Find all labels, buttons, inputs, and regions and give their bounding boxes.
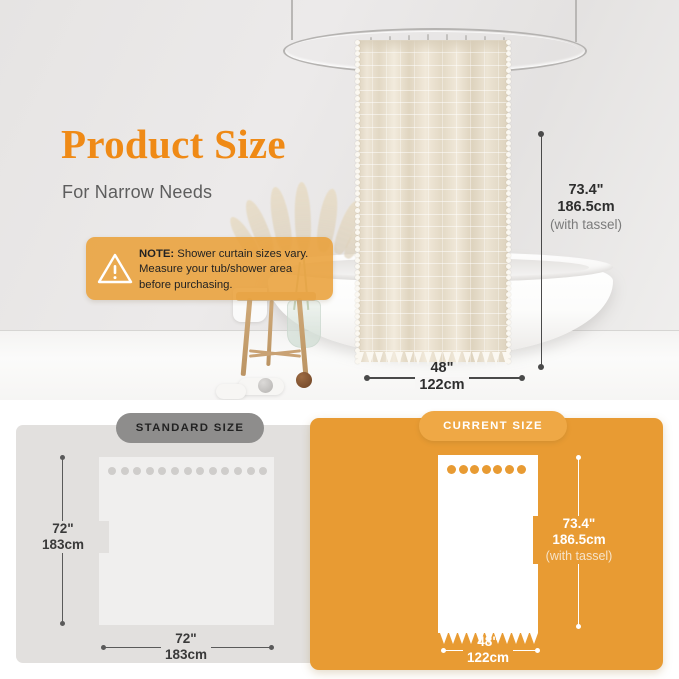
fringe-bead xyxy=(355,225,360,230)
standard-width-dot-right xyxy=(269,645,274,650)
curtain-weave-row xyxy=(358,238,508,239)
curtain-weave-row xyxy=(358,176,508,177)
fringe-bead xyxy=(506,135,511,140)
rod-stem-right xyxy=(575,0,577,42)
standard-width-cm: 183cm xyxy=(161,647,211,663)
curtain-weave-row xyxy=(358,152,508,153)
standard-grommet xyxy=(108,467,116,475)
curtain-weave-col xyxy=(484,40,485,362)
curtain-weave-row xyxy=(358,325,508,326)
fringe-bead xyxy=(506,163,511,168)
curtain-weave-col xyxy=(428,40,429,362)
fringe-bead xyxy=(506,242,511,247)
fringe-bead xyxy=(506,298,511,303)
fringe-bead xyxy=(506,51,511,56)
fringe-bead xyxy=(355,286,360,291)
curtain-weave-row xyxy=(358,164,508,165)
fringe-bead xyxy=(355,264,360,269)
fringe-bead xyxy=(506,107,511,112)
fringe-bead xyxy=(355,74,360,79)
current-width-dot-right xyxy=(535,648,540,653)
fringe-bead xyxy=(355,253,360,258)
standard-width-label: 72" 183cm xyxy=(140,631,232,663)
fringe-bead xyxy=(355,130,360,135)
fringe-bead xyxy=(355,236,360,241)
note-label: NOTE: xyxy=(139,248,174,260)
fringe-bead xyxy=(355,219,360,224)
fringe-bead xyxy=(506,174,511,179)
fringe-bead xyxy=(506,169,511,174)
scene-height-line xyxy=(541,134,543,368)
current-grommet xyxy=(459,465,468,474)
fringe-bead xyxy=(355,309,360,314)
standard-curtain-shape xyxy=(99,457,274,625)
curtain-weave-row xyxy=(358,114,508,115)
scene-height-cm: 186.5cm xyxy=(516,199,656,216)
fringe-bead xyxy=(355,113,360,118)
fringe-bead xyxy=(355,186,360,191)
fringe-bead xyxy=(506,79,511,84)
fringe-bead xyxy=(506,118,511,123)
curtain-weave-row xyxy=(358,90,508,91)
scene-width-cm: 122cm xyxy=(415,377,468,394)
current-height-dot-bottom xyxy=(576,624,581,629)
curtain-weave-row xyxy=(358,350,508,351)
fringe-bead xyxy=(355,124,360,129)
fringe-bead xyxy=(506,124,511,129)
fringe-bead xyxy=(355,85,360,90)
curtain-weave-col xyxy=(414,40,415,362)
fringe-bead xyxy=(355,174,360,179)
fringe-bead xyxy=(506,320,511,325)
standard-height-inches: 72" xyxy=(17,521,109,537)
fringe-bead xyxy=(355,146,360,151)
current-height-label: 73.4" 186.5cm (with tassel) xyxy=(533,516,625,564)
fringe-bead xyxy=(506,309,511,314)
curtain-weave-row xyxy=(358,201,508,202)
fringe-bead xyxy=(355,40,360,45)
fringe-bead xyxy=(506,102,511,107)
standard-grommet xyxy=(209,467,217,475)
curtain-weave-col xyxy=(456,40,457,362)
fringe-bead xyxy=(355,326,360,331)
shower-curtain-photo xyxy=(358,40,508,362)
fringe-bead xyxy=(506,152,511,157)
fringe-bead xyxy=(355,337,360,342)
curtain-weave-row xyxy=(358,77,508,78)
fringe-bead xyxy=(355,298,360,303)
warning-triangle-icon xyxy=(97,252,133,285)
standard-grommet xyxy=(234,467,242,475)
curtain-weave-row xyxy=(358,189,508,190)
curtain-weave-row xyxy=(358,251,508,252)
fringe-bead xyxy=(355,152,360,157)
fringe-bead xyxy=(355,135,360,140)
fringe-bead xyxy=(355,314,360,319)
towel-roll-small xyxy=(216,384,246,399)
standard-width-inches: 72" xyxy=(140,631,232,647)
fringe-bead xyxy=(506,180,511,185)
fringe-bead xyxy=(355,270,360,275)
fringe-bead xyxy=(506,225,511,230)
fringe-bead xyxy=(506,191,511,196)
curtain-weave-row xyxy=(358,127,508,128)
fringe-bead xyxy=(355,208,360,213)
fringe-bead xyxy=(355,303,360,308)
fringe-bead xyxy=(506,202,511,207)
fringe-bead xyxy=(355,79,360,84)
fringe-bead xyxy=(506,90,511,95)
fringe-bead xyxy=(355,281,360,286)
fringe-bead xyxy=(506,141,511,146)
current-grommet xyxy=(447,465,456,474)
rod-stem-left xyxy=(291,0,293,40)
fringe-bead xyxy=(355,197,360,202)
fringe-bead xyxy=(355,191,360,196)
current-size-badge: CURRENT SIZE xyxy=(419,411,567,441)
fringe-bead xyxy=(355,90,360,95)
fringe-bead xyxy=(506,40,511,45)
current-height-qualifier: (with tassel) xyxy=(533,548,625,564)
curtain-weave-row xyxy=(358,139,508,140)
fringe-bead xyxy=(506,230,511,235)
fringe-bead xyxy=(506,46,511,51)
curtain-weave-col xyxy=(470,40,471,362)
fringe-bead xyxy=(355,102,360,107)
decor-ball-gray xyxy=(258,378,273,393)
fringe-bead xyxy=(355,202,360,207)
fringe-bead xyxy=(506,186,511,191)
fringe-bead xyxy=(355,214,360,219)
curtain-fringe-right xyxy=(505,40,512,362)
product-size-infographic: Product Size For Narrow Needs NOTE: Show… xyxy=(0,0,679,679)
fringe-bead xyxy=(355,292,360,297)
fringe-bead xyxy=(355,51,360,56)
standard-grommet xyxy=(121,467,129,475)
curtain-weave-col xyxy=(372,40,373,362)
current-grommet xyxy=(517,465,526,474)
curtain-weave-row xyxy=(358,102,508,103)
fringe-bead xyxy=(355,247,360,252)
fringe-bead xyxy=(506,292,511,297)
fringe-bead xyxy=(506,275,511,280)
standard-size-badge: STANDARD SIZE xyxy=(116,413,264,443)
curtain-header-shade xyxy=(358,40,508,54)
fringe-bead xyxy=(506,74,511,79)
curtain-weave-row xyxy=(358,226,508,227)
fringe-bead xyxy=(355,331,360,336)
fringe-bead xyxy=(506,270,511,275)
standard-grommet xyxy=(247,467,255,475)
fringe-bead xyxy=(506,253,511,258)
fringe-bead xyxy=(506,62,511,67)
fringe-bead xyxy=(355,107,360,112)
fringe-bead xyxy=(506,197,511,202)
curtain-weave-row xyxy=(358,263,508,264)
curtain-weave-row xyxy=(358,338,508,339)
fringe-bead xyxy=(355,180,360,185)
curtain-weave-row xyxy=(358,65,508,66)
scene-width-inches: 48" xyxy=(381,360,503,377)
fringe-bead xyxy=(506,96,511,101)
fringe-bead xyxy=(355,96,360,101)
scene-width-label: 48" 122cm xyxy=(381,360,503,394)
fringe-bead xyxy=(506,337,511,342)
curtain-weave-col xyxy=(442,40,443,362)
fringe-bead xyxy=(506,146,511,151)
fringe-bead xyxy=(506,264,511,269)
fringe-bead xyxy=(355,242,360,247)
fringe-bead xyxy=(506,130,511,135)
fringe-bead xyxy=(506,258,511,263)
fringe-bead xyxy=(506,314,511,319)
standard-height-cm: 183cm xyxy=(17,537,109,553)
curtain-weave-row xyxy=(358,214,508,215)
fringe-bead xyxy=(506,158,511,163)
fringe-bead xyxy=(355,163,360,168)
fringe-bead xyxy=(506,208,511,213)
fringe-bead xyxy=(355,258,360,263)
fringe-bead xyxy=(355,169,360,174)
curtain-weave-row xyxy=(358,276,508,277)
current-height-inches: 73.4" xyxy=(533,516,625,532)
fringe-bead xyxy=(355,118,360,123)
fringe-bead xyxy=(506,57,511,62)
fringe-bead xyxy=(506,68,511,73)
curtain-weave-row xyxy=(358,300,508,301)
curtain-tassel xyxy=(356,352,364,365)
fringe-bead xyxy=(506,281,511,286)
current-width-label: 48" 122cm xyxy=(442,634,534,666)
page-title: Product Size xyxy=(61,120,286,168)
curtain-weave-row xyxy=(358,288,508,289)
current-grommet xyxy=(482,465,491,474)
fringe-bead xyxy=(506,326,511,331)
fringe-bead xyxy=(506,303,511,308)
standard-grommet xyxy=(171,467,179,475)
fringe-bead xyxy=(506,236,511,241)
fringe-bead xyxy=(355,68,360,73)
curtain-weave-col xyxy=(386,40,387,362)
fringe-bead xyxy=(355,230,360,235)
standard-height-dot-bottom xyxy=(60,621,65,626)
fringe-bead xyxy=(355,158,360,163)
fringe-bead xyxy=(506,85,511,90)
fringe-bead xyxy=(355,342,360,347)
scene-height-label: 73.4" 186.5cm (with tassel) xyxy=(516,182,656,233)
standard-grommet xyxy=(184,467,192,475)
curtain-weave-col xyxy=(498,40,499,362)
curtain-weave-row xyxy=(358,313,508,314)
curtain-tassel xyxy=(366,352,374,365)
curtain-weave-col xyxy=(400,40,401,362)
fringe-bead xyxy=(506,247,511,252)
page-subtitle: For Narrow Needs xyxy=(62,182,212,203)
standard-height-label: 72" 183cm xyxy=(17,521,109,553)
note-text: NOTE: Shower curtain sizes vary. Measure… xyxy=(139,247,325,293)
fringe-bead xyxy=(355,46,360,51)
curtain-fringe-left xyxy=(354,40,361,362)
current-curtain-shape xyxy=(438,455,538,633)
fringe-bead xyxy=(355,275,360,280)
current-height-cm: 186.5cm xyxy=(533,532,625,548)
fringe-bead xyxy=(355,141,360,146)
fringe-bead xyxy=(506,219,511,224)
fringe-bead xyxy=(355,62,360,67)
fringe-bead xyxy=(506,214,511,219)
standard-grommet xyxy=(146,467,154,475)
fringe-bead xyxy=(506,286,511,291)
current-grommet xyxy=(505,465,514,474)
scene-height-dot-bottom xyxy=(538,364,544,370)
current-width-inches: 48" xyxy=(442,634,534,650)
scene-height-inches: 73.4" xyxy=(516,182,656,199)
scene-width-dot-right xyxy=(519,375,525,381)
fringe-bead xyxy=(506,342,511,347)
fringe-bead xyxy=(506,331,511,336)
fringe-bead xyxy=(355,320,360,325)
scene-height-qualifier: (with tassel) xyxy=(516,216,656,233)
fringe-bead xyxy=(355,57,360,62)
current-width-cm: 122cm xyxy=(463,650,513,666)
fringe-bead xyxy=(506,113,511,118)
decor-ball-brown xyxy=(296,372,312,388)
